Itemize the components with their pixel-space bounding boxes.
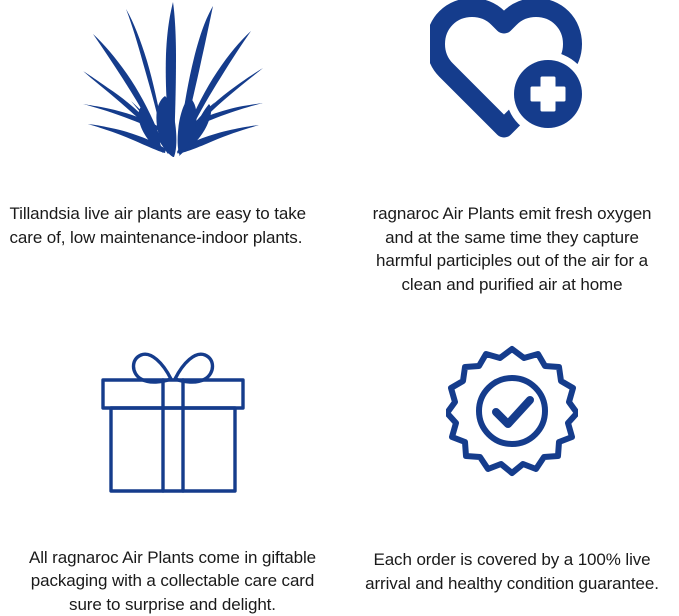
feature-cell-air-plant: Tillandsia live air plants are easy to t… <box>0 0 345 308</box>
heart-plus-icon-wrap <box>345 0 679 160</box>
guarantee-badge-icon-wrap <box>345 308 679 498</box>
gift-box-icon-wrap <box>0 308 345 496</box>
feature-cell-guarantee: Each order is covered by a 100% live arr… <box>345 308 679 616</box>
feature-cell-gift: All ragnaroc Air Plants come in giftable… <box>0 308 345 616</box>
feature-grid: Tillandsia live air plants are easy to t… <box>0 0 679 616</box>
air-plant-icon-wrap <box>0 0 345 160</box>
feature-caption-gift: All ragnaroc Air Plants come in giftable… <box>8 546 338 616</box>
gift-box-icon <box>93 343 253 493</box>
heart-plus-icon <box>430 0 594 140</box>
feature-cell-heart: ragnaroc Air Plants emit fresh oxygen an… <box>345 0 679 308</box>
air-plant-icon <box>83 0 263 158</box>
feature-caption-heart: ragnaroc Air Plants emit fresh oxygen an… <box>351 202 673 296</box>
feature-caption-guarantee: Each order is covered by a 100% live arr… <box>350 548 674 595</box>
guarantee-badge-icon <box>446 343 578 477</box>
feature-caption-air-plant: Tillandsia live air plants are easy to t… <box>5 202 341 249</box>
